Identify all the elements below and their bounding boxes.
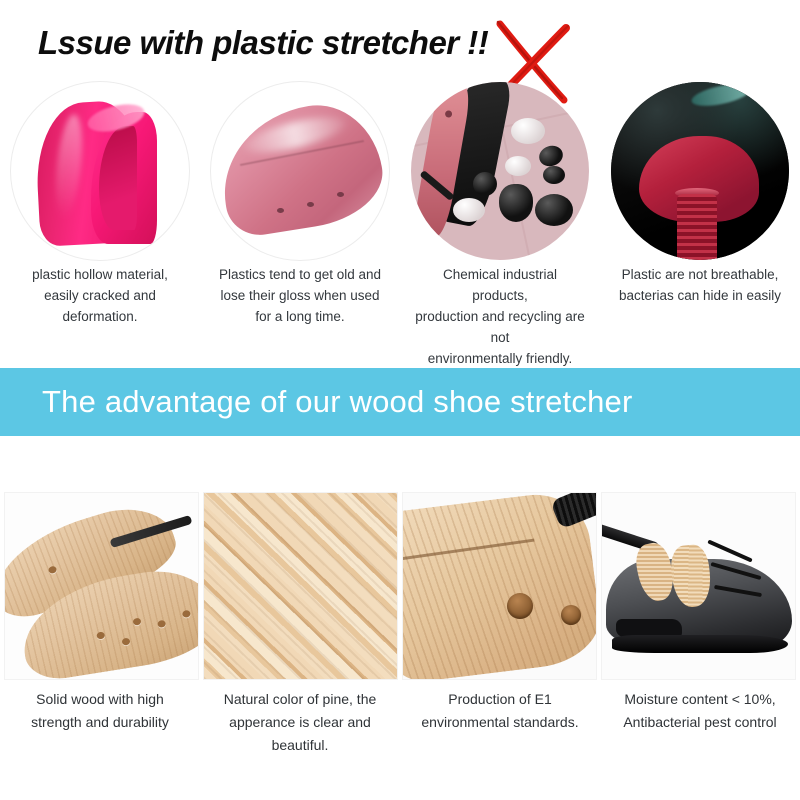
caption-line: Plastics tend to get old and	[214, 264, 386, 285]
caption-line: Production of E1	[412, 688, 588, 711]
wood-image-cell-4	[601, 492, 796, 680]
wood-image-row	[4, 492, 796, 680]
caption-line: Chemical industrial products,	[414, 264, 586, 306]
plastic-image-cell-1	[0, 76, 200, 266]
caption-line: production and recycling are not	[414, 306, 586, 348]
wood-image-cell-1	[4, 492, 199, 680]
plastic-issue-section: Lssue with plastic stretcher !!	[0, 0, 800, 368]
plastic-image-cell-4	[600, 76, 800, 266]
banner-title: The advantage of our wood shoe stretcher	[42, 384, 632, 420]
scattered-plastic-parts-photo	[411, 82, 589, 260]
wood-caption-4: Moisture content < 10%, Antibacterial pe…	[600, 688, 800, 768]
wood-caption-row: Solid wood with high strength and durabi…	[0, 688, 800, 768]
wood-caption-2: Natural color of pine, the apperance is …	[200, 688, 400, 768]
caption-line: apperance is clear and beautiful.	[212, 711, 388, 757]
caption-line: Plastic are not breathable,	[614, 264, 786, 285]
wooden-shoe-stretcher-toes-photo	[5, 493, 198, 679]
caption-line: environmentally friendly.	[414, 348, 586, 369]
plastic-image-cell-3	[400, 76, 600, 266]
black-dress-shoe-with-wood-stretcher-photo	[602, 493, 795, 679]
caption-line: strength and durability	[12, 711, 188, 734]
caption-line: Solid wood with high	[12, 688, 188, 711]
caption-line: easily cracked and deformation.	[14, 285, 186, 327]
product-infographic-page: Lssue with plastic stretcher !!	[0, 0, 800, 800]
plastic-image-cell-2	[200, 76, 400, 266]
plastic-caption-1: plastic hollow material, easily cracked …	[0, 264, 200, 360]
caption-line: environmental standards.	[412, 711, 588, 734]
caption-line: Natural color of pine, the	[212, 688, 388, 711]
wood-caption-3: Production of E1 environmental standards…	[400, 688, 600, 768]
wood-image-cell-2	[203, 492, 398, 680]
caption-line: lose their gloss when used	[214, 285, 386, 306]
pink-hollow-plastic-stretcher-photo	[10, 81, 190, 261]
caption-line: plastic hollow material,	[14, 264, 186, 285]
wood-caption-1: Solid wood with high strength and durabi…	[0, 688, 200, 768]
pine-wood-grain-texture-photo	[204, 493, 397, 679]
plastic-image-row	[0, 76, 800, 266]
plastic-caption-3: Chemical industrial products, production…	[400, 264, 600, 360]
wood-image-cell-3	[402, 492, 597, 680]
caption-line: for a long time.	[214, 306, 386, 327]
advantage-banner: The advantage of our wood shoe stretcher	[0, 368, 800, 436]
red-plastic-stretcher-in-black-shoe-photo	[611, 82, 789, 260]
caption-line: Antibacterial pest control	[612, 711, 788, 734]
page-title: Lssue with plastic stretcher !!	[38, 24, 488, 62]
glossy-pink-plastic-toe-photo	[210, 81, 390, 261]
plastic-caption-4: Plastic are not breathable, bacterias ca…	[600, 264, 800, 360]
plastic-caption-2: Plastics tend to get old and lose their …	[200, 264, 400, 360]
caption-line: Moisture content < 10%,	[612, 688, 788, 711]
wooden-stretcher-body-with-holes-photo	[403, 493, 596, 679]
caption-line: bacterias can hide in easily	[614, 285, 786, 306]
plastic-caption-row: plastic hollow material, easily cracked …	[0, 264, 800, 360]
